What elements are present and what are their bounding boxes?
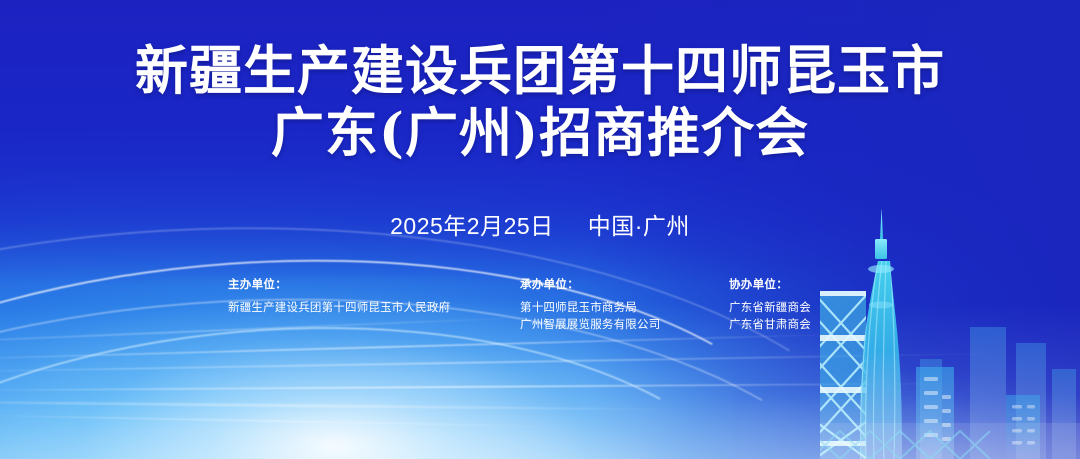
- organizer-heading: 承办单位：: [520, 277, 660, 294]
- event-location: 中国·广州: [588, 213, 690, 239]
- title-line-2: 广东(广州)招商推介会: [0, 102, 1080, 164]
- organizer-list: 主办单位： 新疆生产建设兵团第十四师昆玉市人民政府 承办单位： 第十四师昆玉市商…: [228, 277, 928, 347]
- organizer-item: 新疆生产建设兵团第十四师昆玉市人民政府: [228, 300, 450, 317]
- banner-content: 新疆生产建设兵团第十四师昆玉市 广东(广州)招商推介会 2025年2月25日中国…: [0, 0, 1080, 459]
- organizer-heading: 主办单位：: [228, 277, 450, 294]
- event-title: 新疆生产建设兵团第十四师昆玉市 广东(广州)招商推介会: [0, 40, 1080, 164]
- organizer-item: 广东省甘肃商会: [729, 317, 811, 334]
- title-line-1: 新疆生产建设兵团第十四师昆玉市: [0, 40, 1080, 102]
- organizer-column-coorganizer: 协办单位： 广东省新疆商会 广东省甘肃商会: [729, 277, 811, 334]
- event-date: 2025年2月25日: [390, 213, 554, 239]
- event-meta: 2025年2月25日中国·广州: [0, 211, 1080, 241]
- organizer-item: 广州智展展览服务有限公司: [520, 317, 660, 334]
- organizer-item: 第十四师昆玉市商务局: [520, 300, 660, 317]
- organizer-item: 广东省新疆商会: [729, 300, 811, 317]
- organizer-column-host: 主办单位： 新疆生产建设兵团第十四师昆玉市人民政府: [228, 277, 450, 317]
- organizer-column-organizer: 承办单位： 第十四师昆玉市商务局 广州智展展览服务有限公司: [520, 277, 660, 334]
- organizer-heading: 协办单位：: [729, 277, 811, 294]
- event-banner: 新疆生产建设兵团第十四师昆玉市 广东(广州)招商推介会 2025年2月25日中国…: [0, 0, 1080, 459]
